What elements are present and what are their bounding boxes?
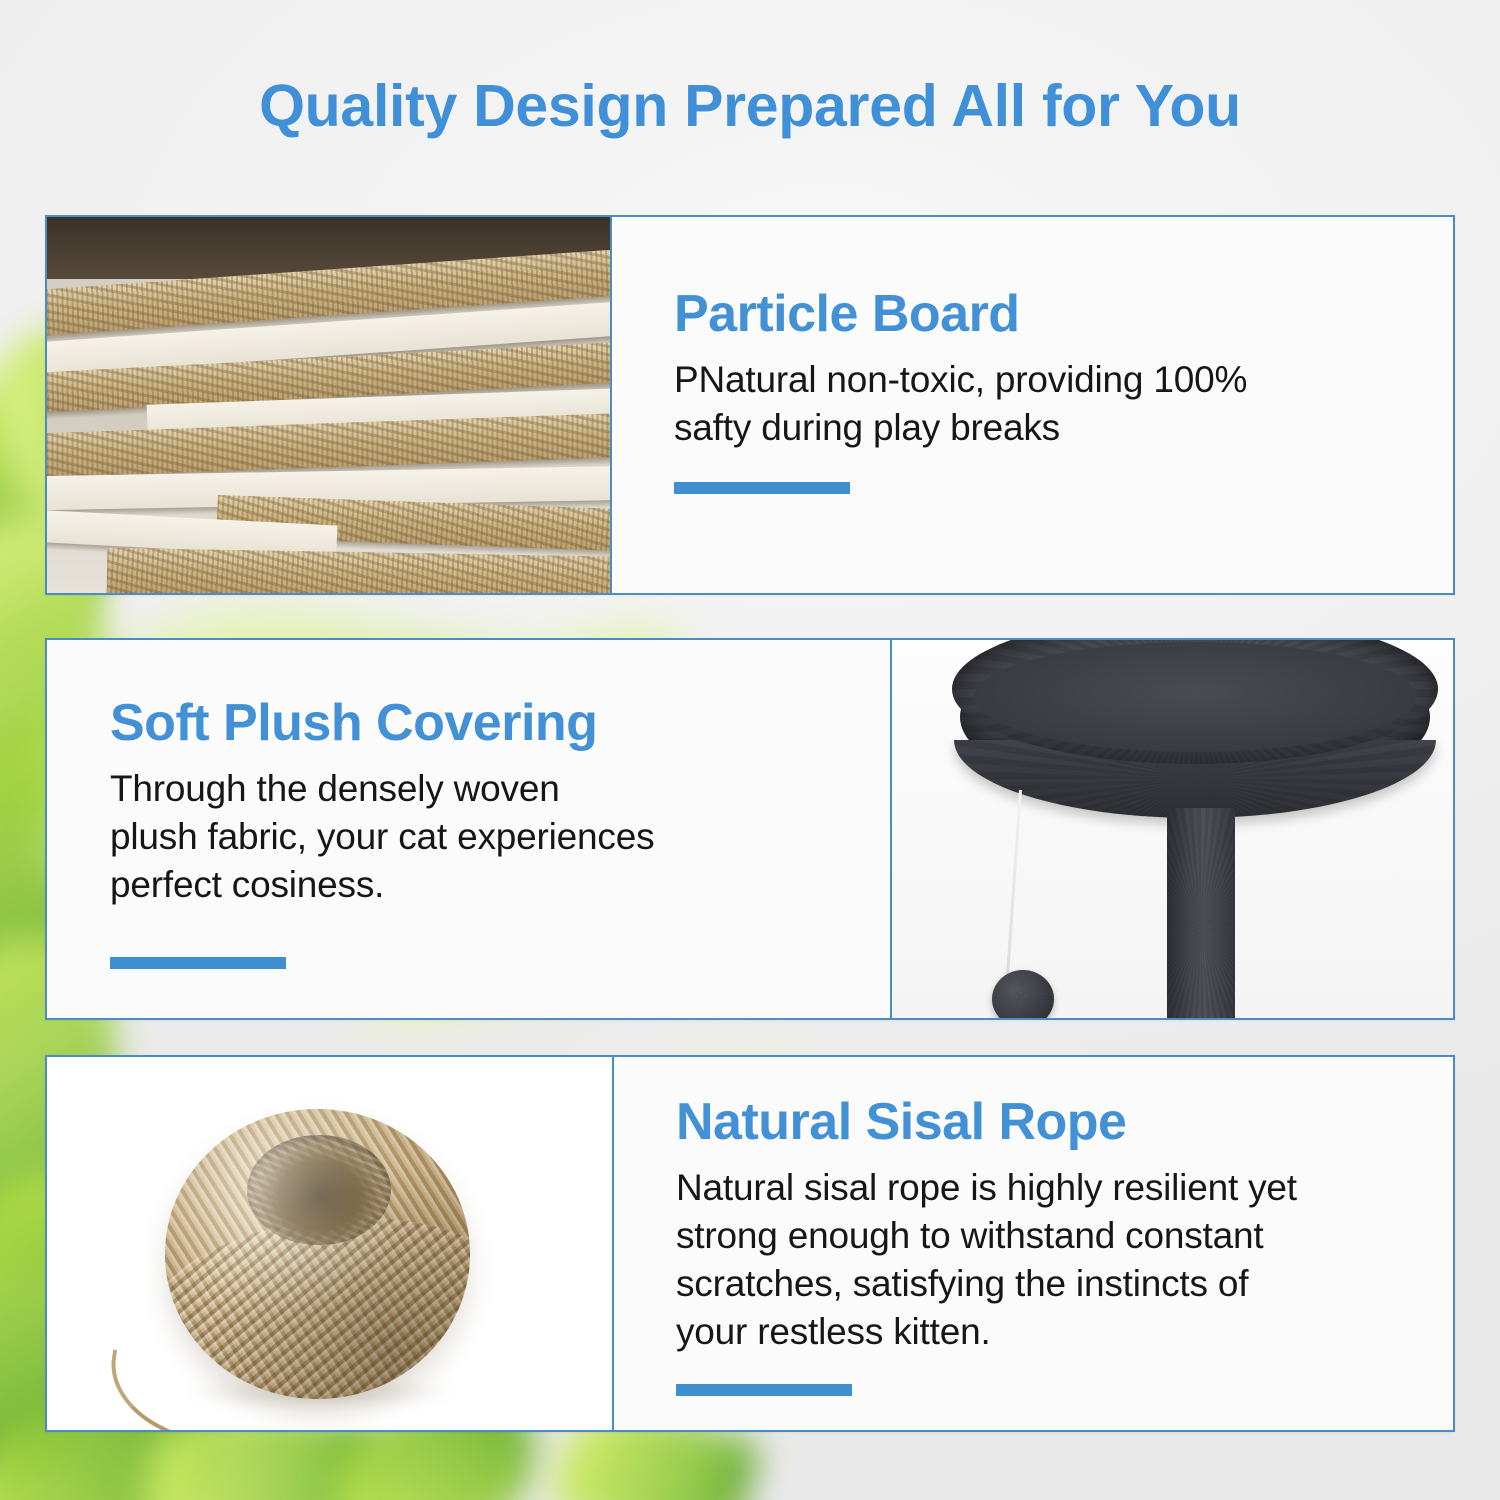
rope-ball — [165, 1109, 470, 1399]
description-line: strong enough to withstand constant — [676, 1212, 1413, 1260]
feature-heading: Natural Sisal Rope — [676, 1095, 1413, 1150]
feature-text-natural-sisal-rope: Natural Sisal Rope Natural sisal rope is… — [612, 1057, 1453, 1430]
toy-string — [1006, 790, 1022, 980]
sisal-rope-illustration — [47, 1057, 612, 1430]
particle-board-illustration — [47, 217, 610, 593]
feature-card-natural-sisal-rope: Natural Sisal Rope Natural sisal rope is… — [45, 1055, 1455, 1432]
feature-image-sisal-rope-ball — [47, 1057, 612, 1430]
description-line: your restless kitten. — [676, 1308, 1413, 1356]
feature-text-particle-board: Particle Board PNatural non-toxic, provi… — [610, 217, 1453, 593]
cat-tree-illustration — [892, 640, 1453, 1018]
accent-underline-bar — [676, 1384, 852, 1396]
feature-heading: Particle Board — [674, 287, 1413, 342]
description-line: PNatural non-toxic, providing 100% — [674, 356, 1413, 404]
pom-pom-ball — [992, 970, 1054, 1018]
board-plank — [107, 548, 610, 593]
feature-heading: Soft Plush Covering — [110, 696, 850, 751]
support-post — [1167, 808, 1235, 1018]
feature-image-particle-board — [47, 217, 610, 593]
accent-underline-bar — [110, 957, 286, 969]
description-line: Natural sisal rope is highly resilient y… — [676, 1164, 1413, 1212]
accent-underline-bar — [674, 482, 850, 494]
feature-description: Through the densely woven plush fabric, … — [110, 765, 850, 909]
description-line: Through the densely woven — [110, 765, 850, 813]
feature-description: PNatural non-toxic, providing 100% safty… — [674, 356, 1413, 452]
feature-image-cat-tree-platform — [890, 640, 1453, 1018]
description-line: safty during play breaks — [674, 404, 1413, 452]
page-title: Quality Design Prepared All for You — [0, 72, 1500, 140]
feature-text-soft-plush-covering: Soft Plush Covering Through the densely … — [47, 640, 890, 1018]
description-line: plush fabric, your cat experiences — [110, 813, 850, 861]
feature-description: Natural sisal rope is highly resilient y… — [676, 1164, 1413, 1356]
feature-card-particle-board: Particle Board PNatural non-toxic, provi… — [45, 215, 1455, 595]
description-line: scratches, satisfying the instincts of — [676, 1260, 1413, 1308]
infographic-page: Quality Design Prepared All for You — [0, 0, 1500, 1500]
description-line: perfect cosiness. — [110, 861, 850, 909]
feature-card-soft-plush-covering: Soft Plush Covering Through the densely … — [45, 638, 1455, 1020]
